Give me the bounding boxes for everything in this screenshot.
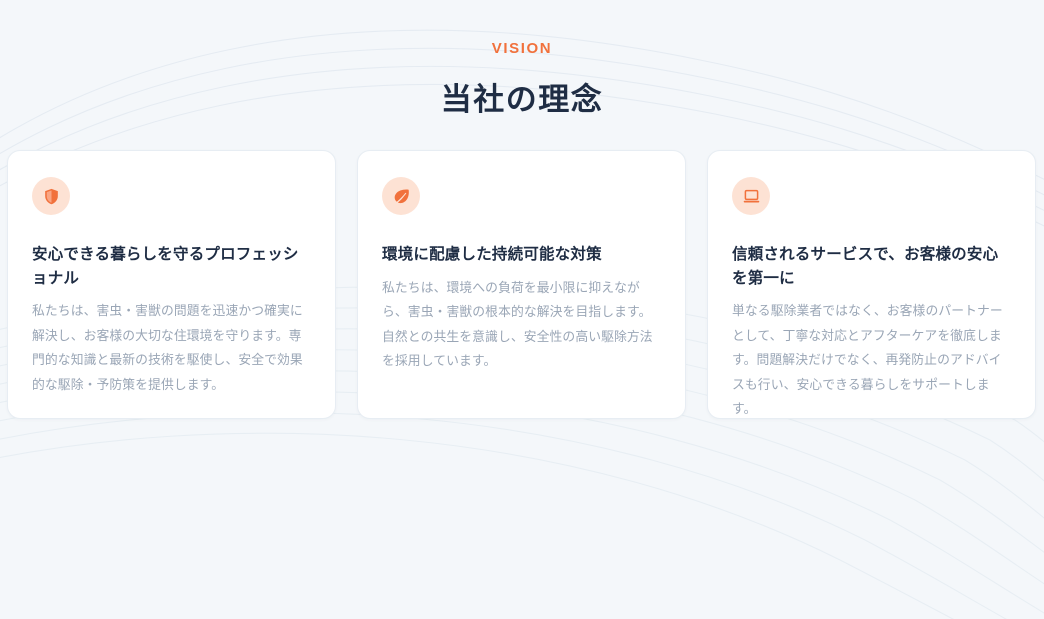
page-title: 当社の理念	[0, 74, 1044, 119]
leaf-icon	[392, 187, 411, 206]
card-body: 私たちは、害虫・害獣の問題を迅速かつ確実に解決し、お客様の大切な住環境を守ります…	[32, 299, 311, 397]
card-body: 私たちは、環境への負荷を最小限に抑えながら、害虫・害獣の根本的な解決を目指します…	[382, 276, 661, 374]
card-title: 信頼されるサービスで、お客様の安心を第一に	[732, 243, 1011, 290]
vision-card: 信頼されるサービスで、お客様の安心を第一に 単なる駆除業者ではなく、お客様のパー…	[707, 150, 1036, 419]
icon-badge	[382, 177, 420, 215]
icon-badge	[32, 177, 70, 215]
shield-icon	[42, 187, 61, 206]
vision-card: 環境に配慮した持続可能な対策 私たちは、環境への負荷を最小限に抑えながら、害虫・…	[357, 150, 686, 419]
card-title: 環境に配慮した持続可能な対策	[382, 243, 661, 267]
vision-card: 安心できる暮らしを守るプロフェッショナル 私たちは、害虫・害獣の問題を迅速かつ確…	[7, 150, 336, 419]
vision-section: VISION 当社の理念 安心できる暮らしを守るプロフェッショナル 私たちは、害…	[0, 0, 1044, 619]
laptop-icon	[742, 187, 761, 206]
section-eyebrow: VISION	[0, 40, 1044, 57]
icon-badge	[732, 177, 770, 215]
card-title: 安心できる暮らしを守るプロフェッショナル	[32, 243, 311, 290]
card-body: 単なる駆除業者ではなく、お客様のパートナーとして、丁寧な対応とアフターケアを徹底…	[732, 299, 1011, 422]
vision-card-list: 安心できる暮らしを守るプロフェッショナル 私たちは、害虫・害獣の問題を迅速かつ確…	[7, 150, 1037, 419]
